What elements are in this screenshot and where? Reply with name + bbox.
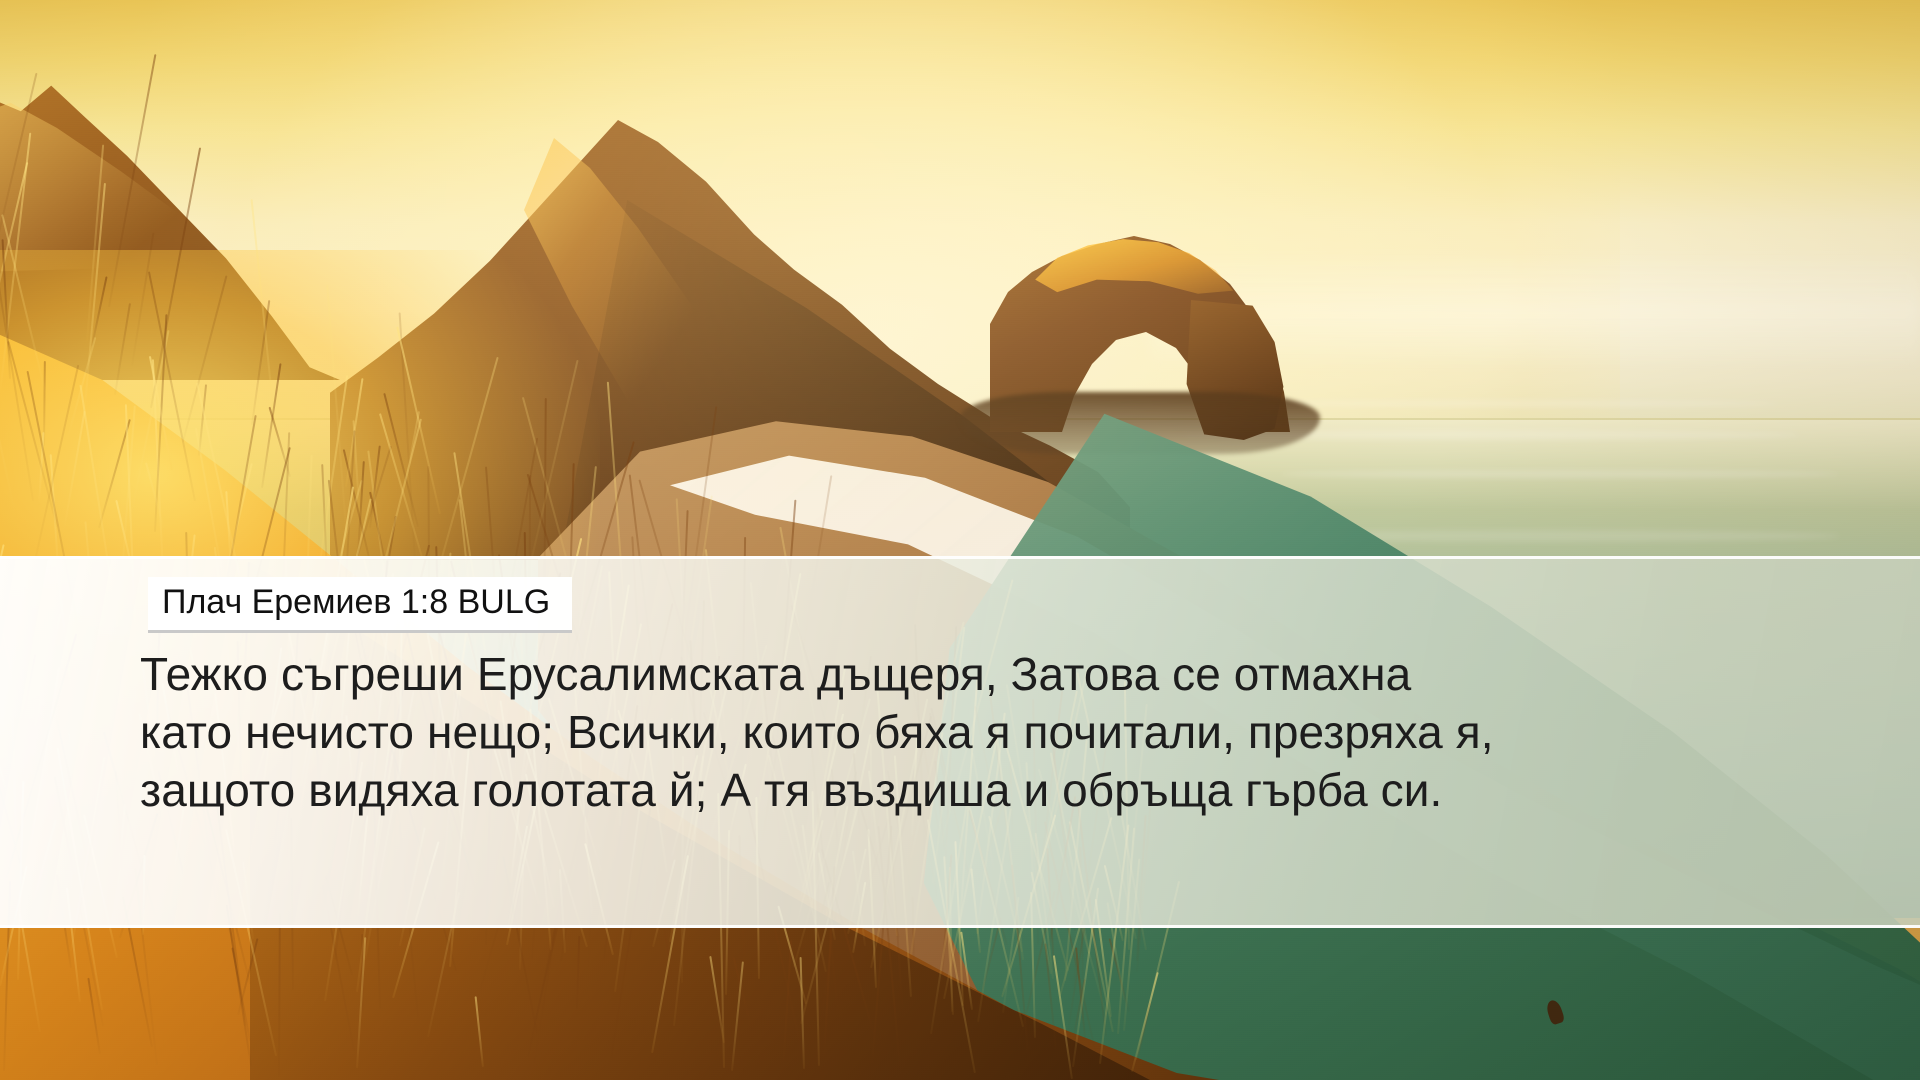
verse-overlay-panel: Плач Еремиев 1:8 BULG Тежко съгреши Ерус… <box>0 556 1920 928</box>
verse-reference-badge: Плач Еремиев 1:8 BULG <box>148 577 572 633</box>
verse-text: Тежко съгреши Ерусалимската дъщеря, Зато… <box>140 645 1840 819</box>
verse-text-line: защото видяха голотата й; А тя въздиша и… <box>140 761 1840 819</box>
verse-text-line: Тежко съгреши Ерусалимската дъщеря, Зато… <box>140 645 1840 703</box>
verse-text-line: като нечисто нещо; Всички, които бяха я … <box>140 703 1840 761</box>
verse-image-card: Плач Еремиев 1:8 BULG Тежко съгреши Ерус… <box>0 0 1920 1080</box>
